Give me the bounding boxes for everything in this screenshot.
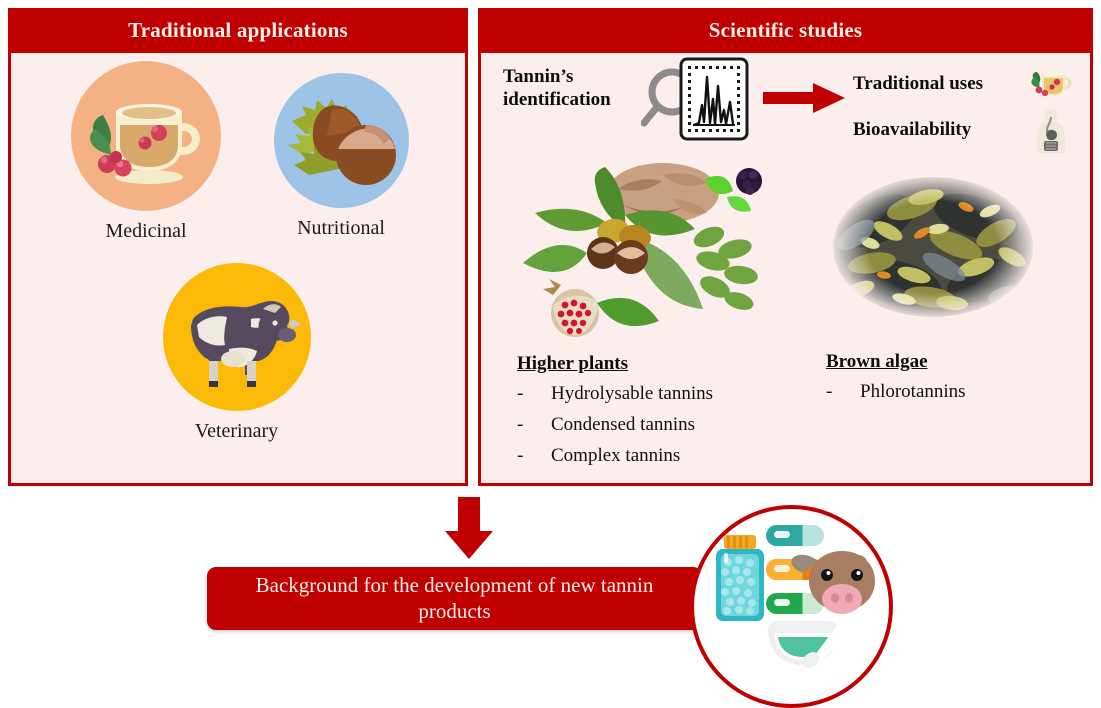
conclusion-banner: Background for the development of new ta…: [207, 567, 702, 630]
graphical-abstract: Traditional applications: [0, 0, 1101, 703]
chestnuts-icon: [274, 73, 409, 208]
tannin-products-icon: [690, 505, 893, 708]
list-item: - Hydrolysable tannins: [517, 379, 807, 410]
down-arrow-icon: [443, 497, 495, 559]
list-item-label: Phlorotannins: [860, 377, 966, 408]
source-title-higher-plants: Higher plants: [517, 353, 807, 375]
bullet-dash: -: [517, 441, 551, 472]
magnifier-chromatogram-icon: [641, 55, 751, 147]
brown-algae-photo: [826, 171, 1041, 323]
tea-cup-berries-icon: [71, 61, 221, 211]
panel-left-title: Traditional applications: [8, 8, 468, 53]
application-label-nutritional: Nutritional: [246, 217, 436, 240]
tea-cup-icon: [1028, 61, 1074, 107]
application-item-medicinal: Medicinal: [51, 61, 241, 243]
panel-traditional-applications: Traditional applications: [8, 8, 468, 486]
panel-right-body: Tannin’s identification: [481, 53, 1090, 483]
outcome-bioavailability: Bioavailability: [853, 107, 1093, 153]
conclusion-banner-text: Background for the development of new ta…: [225, 573, 684, 623]
list-item-label: Complex tannins: [551, 441, 680, 472]
outcome-label-bioavailability: Bioavailability: [853, 119, 1028, 141]
source-title-brown-algae: Brown algae: [826, 351, 1076, 373]
list-item: - Complex tannins: [517, 441, 807, 472]
bullet-dash: -: [517, 410, 551, 441]
list-item: - Condensed tannins: [517, 410, 807, 441]
application-item-nutritional: Nutritional: [246, 73, 436, 240]
tannin-identification-label: Tannin’s identification: [503, 65, 653, 111]
panel-left-body: Medicinal: [11, 53, 465, 483]
digestive-system-icon: [1028, 107, 1074, 153]
outcome-traditional-uses: Traditional uses: [853, 61, 1093, 107]
application-item-veterinary: Veterinary: [129, 263, 344, 443]
application-label-veterinary: Veterinary: [129, 420, 344, 443]
outcomes-list: Traditional uses: [853, 61, 1093, 153]
plant-collage-photo: [513, 153, 793, 348]
tannin-identification-line2: identification: [503, 88, 653, 111]
source-group-higher-plants: Higher plants - Hydrolysable tannins - C…: [517, 353, 807, 471]
source-group-brown-algae: Brown algae - Phlorotannins: [826, 351, 1076, 408]
list-item: - Phlorotannins: [826, 377, 1076, 408]
list-item-label: Condensed tannins: [551, 410, 695, 441]
bullet-dash: -: [826, 377, 860, 408]
outcome-label-traditional-uses: Traditional uses: [853, 73, 1028, 95]
bullet-dash: -: [517, 379, 551, 410]
list-item-label: Hydrolysable tannins: [551, 379, 713, 410]
right-arrow-icon: [763, 83, 845, 113]
tannin-type-list-plants: - Hydrolysable tannins - Condensed tanni…: [517, 379, 807, 471]
application-label-medicinal: Medicinal: [51, 220, 241, 243]
panel-scientific-studies: Scientific studies Tannin’s identificati…: [478, 8, 1093, 486]
panel-right-title: Scientific studies: [478, 8, 1093, 53]
tannin-identification-line1: Tannin’s: [503, 65, 653, 88]
cow-icon: [163, 263, 311, 411]
tannin-type-list-algae: - Phlorotannins: [826, 377, 1076, 408]
